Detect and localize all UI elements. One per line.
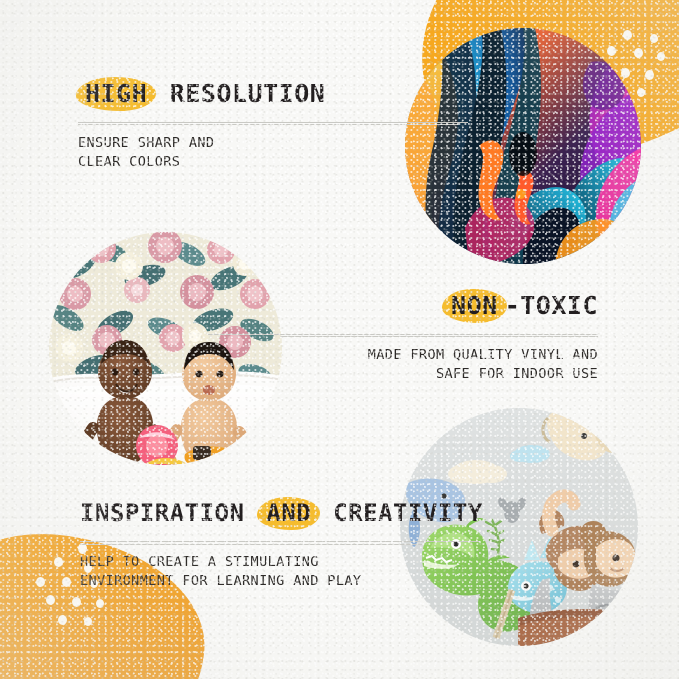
heading-rest-resolution: RESOLUTION <box>170 79 326 108</box>
feature-block-inspiration: INSPIRATION AND CREATIVITY HELP TO CREAT… <box>80 500 480 592</box>
heading-rest-creativity: CREATIVITY <box>333 499 483 527</box>
heading-rest-toxic: -TOXIC <box>505 291 598 320</box>
heading-highlight-and: AND <box>259 500 318 528</box>
feature-block-high-resolution: HIGH RESOLUTION ENSURE SHARP AND CLEAR C… <box>78 80 468 173</box>
heading-highlight-non: NON <box>444 292 505 321</box>
divider-inspiration <box>80 541 480 542</box>
feature-body-inspiration: HELP TO CREATE A STIMULATING ENVIRONMENT… <box>80 553 480 591</box>
divider-high-resolution <box>78 122 468 123</box>
feature-body-non-toxic: MADE FROM QUALITY VINYL AND SAFE FOR IND… <box>208 346 598 384</box>
heading-highlight-high: HIGH <box>78 80 154 109</box>
feature-heading-high-resolution: HIGH RESOLUTION <box>78 80 468 109</box>
divider-non-toxic <box>208 334 598 335</box>
heading-prefix-inspiration: INSPIRATION <box>80 499 244 527</box>
feature-heading-non-toxic: NON-TOXIC <box>208 292 598 321</box>
feature-body-high-resolution: ENSURE SHARP AND CLEAR COLORS <box>78 134 468 172</box>
feature-heading-inspiration: INSPIRATION AND CREATIVITY <box>80 500 480 528</box>
infographic-page: HIGH RESOLUTION ENSURE SHARP AND CLEAR C… <box>0 0 679 679</box>
feature-block-non-toxic: NON-TOXIC MADE FROM QUALITY VINYL AND SA… <box>208 292 598 385</box>
